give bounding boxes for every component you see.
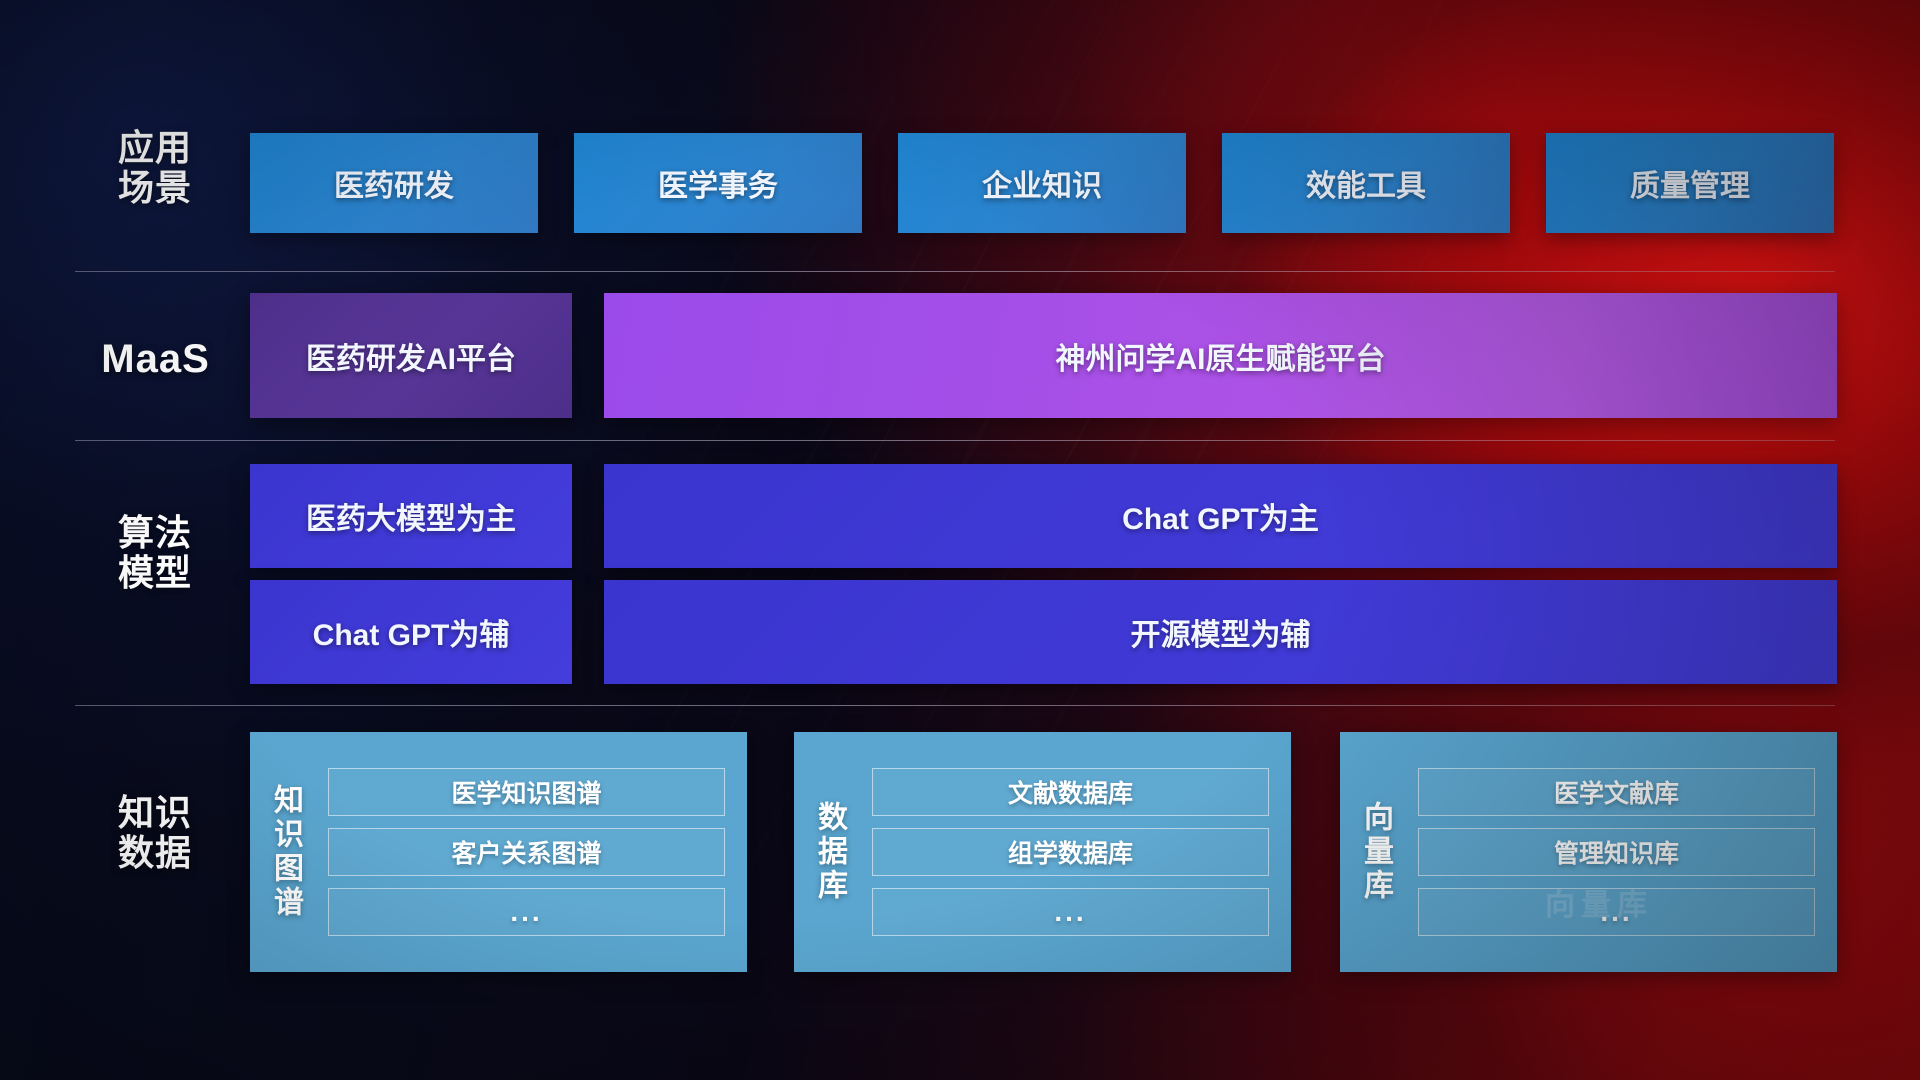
row-label-line: 模型 — [75, 553, 235, 593]
knowledge-card-title: 数据库 — [794, 732, 864, 972]
knowledge-card-items: 医学知识图谱 客户关系图谱 ... — [320, 768, 747, 936]
knowledge-item[interactable]: 组学数据库 — [872, 828, 1269, 876]
app-box-medicine-rd[interactable]: 医药研发 — [250, 133, 538, 233]
app-box-efficiency-tools[interactable]: 效能工具 — [1222, 133, 1510, 233]
row-label-line: 场景 — [75, 168, 235, 208]
knowledge-item[interactable]: 文献数据库 — [872, 768, 1269, 816]
knowledge-card-title: 知识图谱 — [250, 732, 320, 972]
row-label-line: 应用 — [75, 128, 235, 168]
knowledge-item[interactable]: 医学文献库 — [1418, 768, 1815, 816]
knowledge-item-more[interactable]: ... — [328, 888, 725, 936]
row-label-line: 算法 — [75, 513, 235, 553]
app-box-quality-management[interactable]: 质量管理 — [1546, 133, 1834, 233]
row-label-maas: MaaS — [68, 337, 243, 382]
knowledge-card-items: 文献数据库 组学数据库 ... — [864, 768, 1291, 936]
knowledge-card-knowledge-graph[interactable]: 知识图谱 医学知识图谱 客户关系图谱 ... — [250, 732, 747, 972]
row-label-application-scenarios: 应用 场景 — [75, 128, 235, 209]
maas-box-shenzhou-wenxue-platform[interactable]: 神州问学AI原生赋能平台 — [604, 293, 1837, 418]
knowledge-card-database[interactable]: 数据库 文献数据库 组学数据库 ... — [794, 732, 1291, 972]
algo-box-medicine-large-model-primary[interactable]: 医药大模型为主 — [250, 464, 572, 568]
app-box-enterprise-knowledge[interactable]: 企业知识 — [898, 133, 1186, 233]
knowledge-item-more[interactable]: ... — [872, 888, 1269, 936]
knowledge-item[interactable]: 客户关系图谱 — [328, 828, 725, 876]
knowledge-item[interactable]: 医学知识图谱 — [328, 768, 725, 816]
knowledge-item[interactable]: 管理知识库 — [1418, 828, 1815, 876]
knowledge-card-title: 向量库 — [1340, 732, 1410, 972]
row-separator-1 — [75, 271, 1835, 272]
row-label-knowledge-data: 知识 数据 — [75, 793, 235, 874]
row-separator-2 — [75, 440, 1835, 441]
row-separator-3 — [75, 705, 1835, 706]
knowledge-card-items: 医学文献库 管理知识库 ... — [1410, 768, 1837, 936]
algo-box-chatgpt-auxiliary[interactable]: Chat GPT为辅 — [250, 580, 572, 684]
algo-box-chatgpt-primary[interactable]: Chat GPT为主 — [604, 464, 1837, 568]
row-label-line: 知识 — [75, 793, 235, 833]
app-box-medical-affairs[interactable]: 医学事务 — [574, 133, 862, 233]
row-label-line: MaaS — [68, 337, 243, 382]
maas-box-medicine-rd-ai-platform[interactable]: 医药研发AI平台 — [250, 293, 572, 418]
knowledge-item-more[interactable]: ... — [1418, 888, 1815, 936]
row-label-line: 数据 — [75, 833, 235, 873]
algo-box-open-source-auxiliary[interactable]: 开源模型为辅 — [604, 580, 1837, 684]
knowledge-card-vector-store[interactable]: 向量库 医学文献库 管理知识库 ... — [1340, 732, 1837, 972]
row-label-algorithm-models: 算法 模型 — [75, 513, 235, 594]
diagram-canvas: 应用 场景 医药研发 医学事务 企业知识 效能工具 质量管理 MaaS 医药研发… — [0, 0, 1920, 1080]
